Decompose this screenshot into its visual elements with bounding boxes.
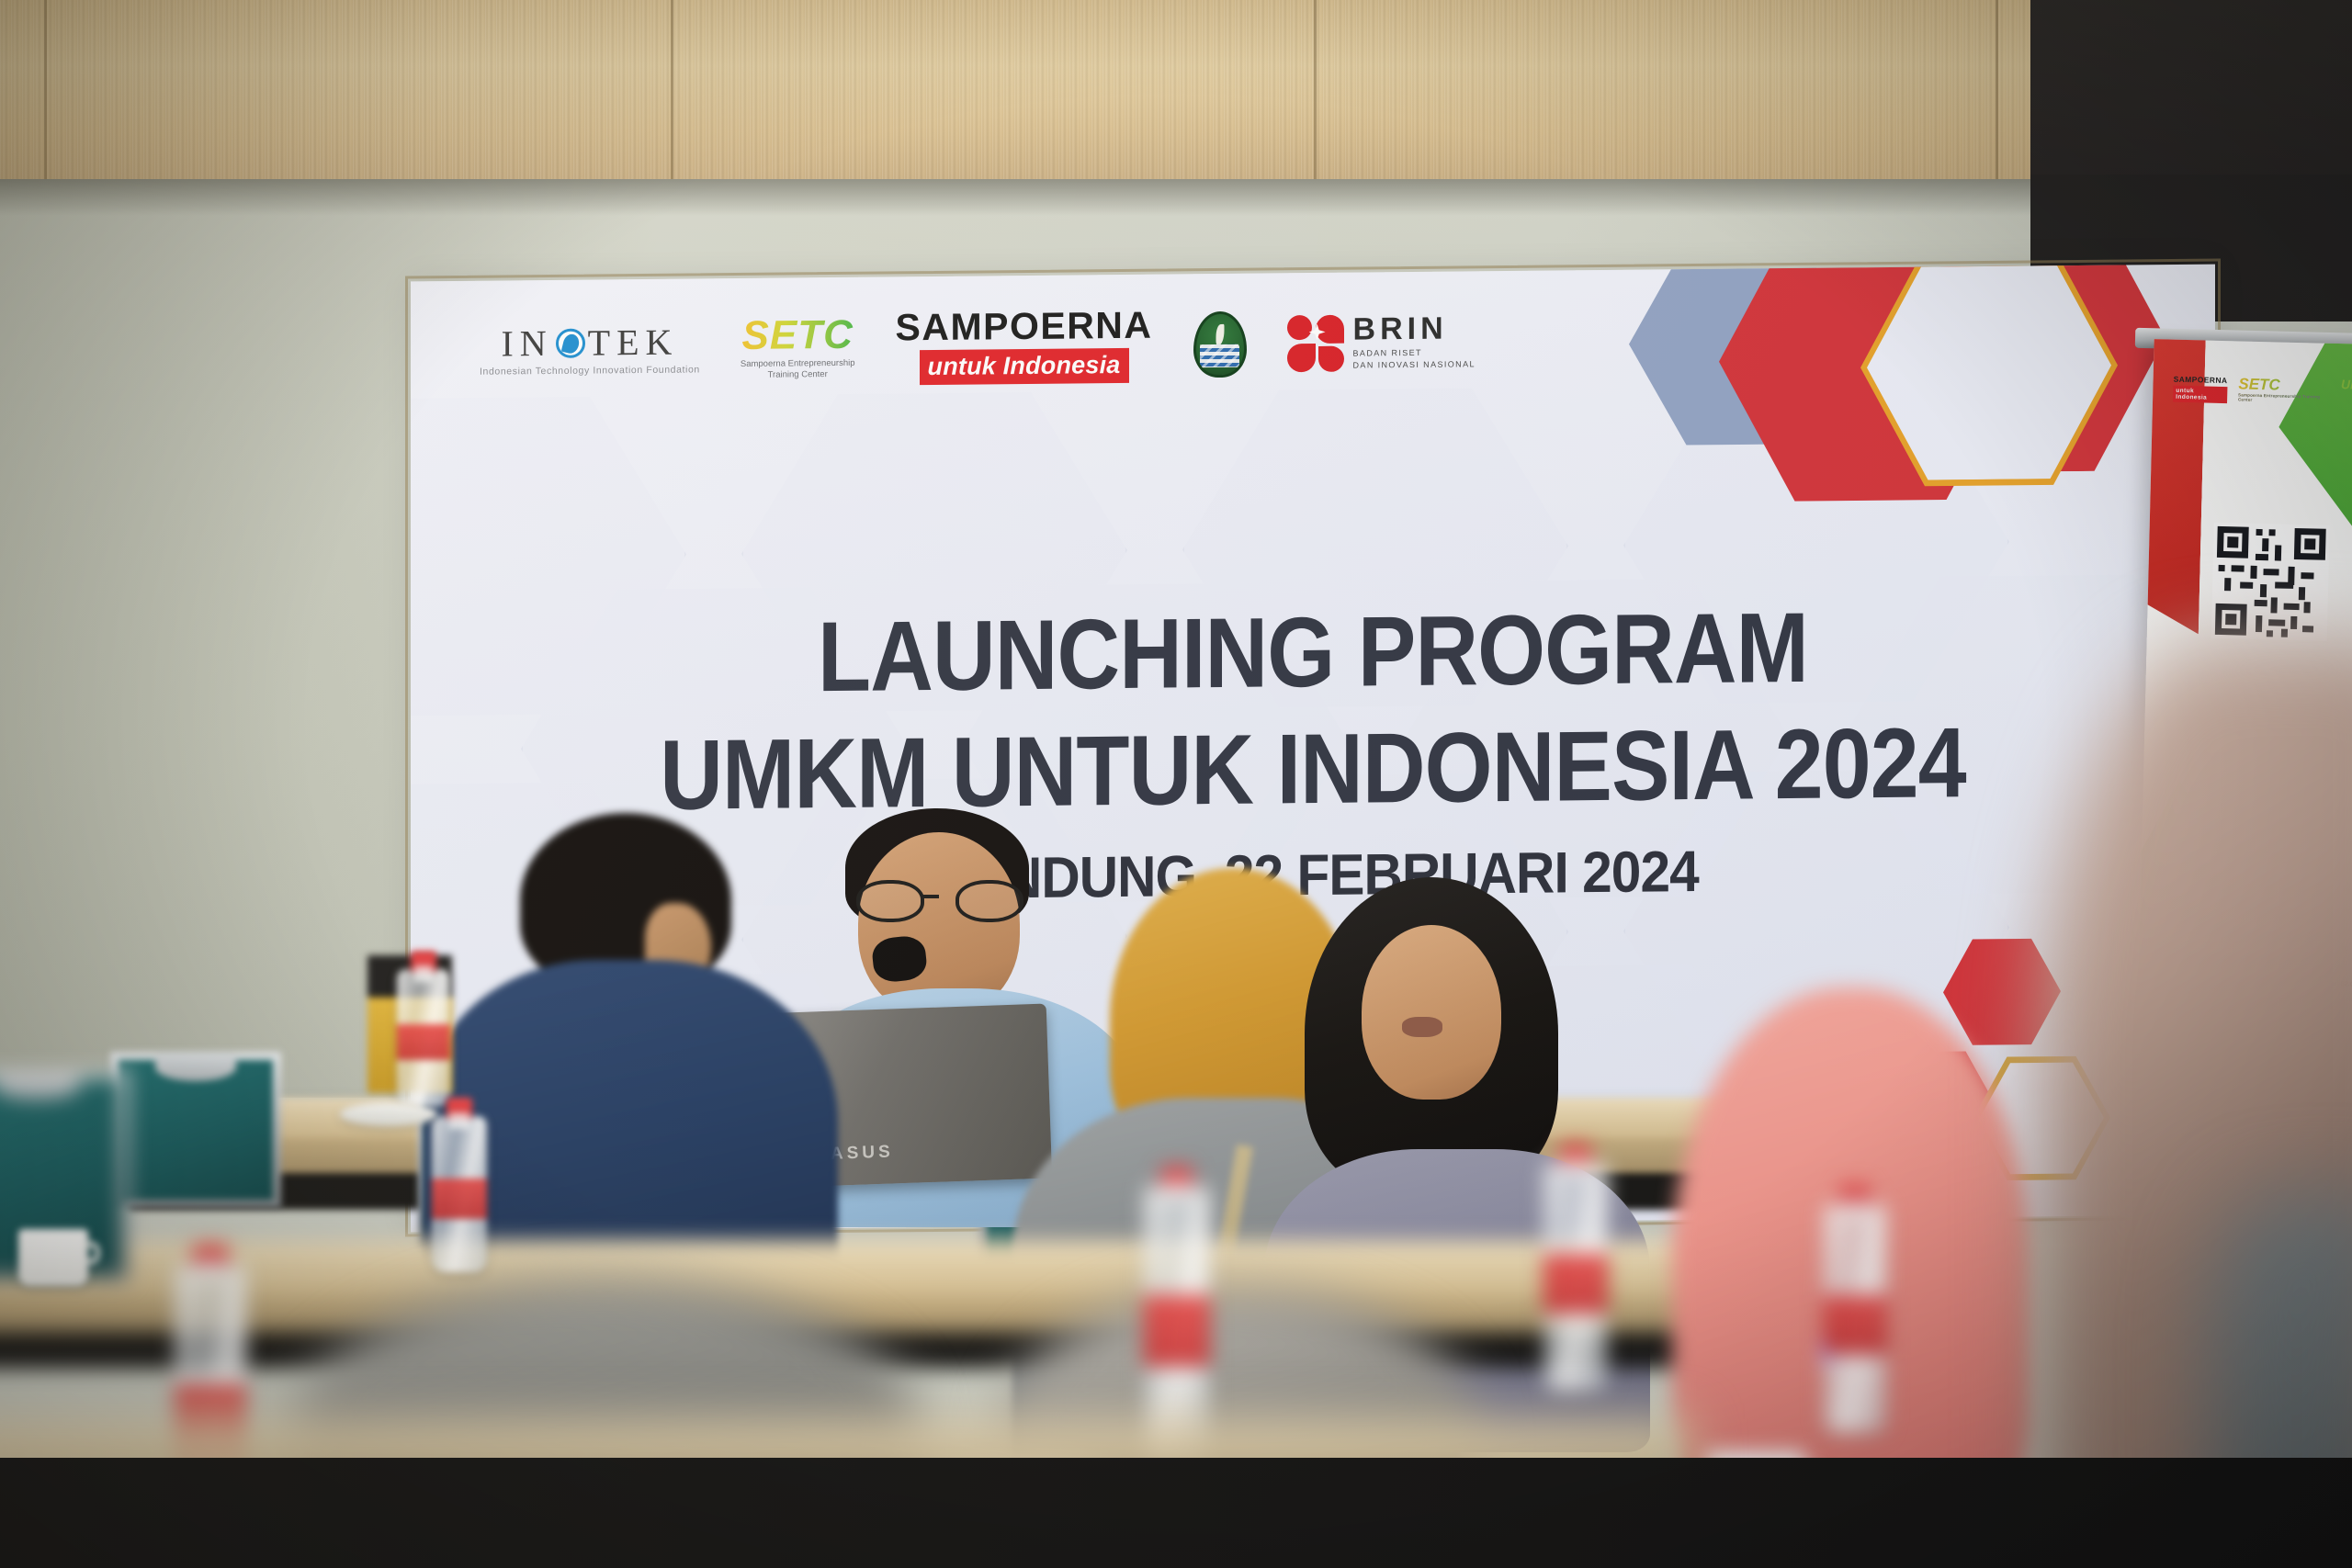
logo-jawa-barat [1193,310,1247,378]
attendee-navy-shirt [432,813,827,1300]
emblem-stripes [1200,344,1240,367]
sampoerna-badge: untuk Indonesia [920,348,1129,385]
rollup-sampoerna-word: SAMPOERNA [2174,375,2228,385]
water-bottle [432,1116,487,1272]
setc-wordmark: SETC [742,315,854,356]
eyeglasses [856,876,1027,926]
water-bottle [1824,1203,1886,1433]
logo-sampoerna: SAMPOERNA untuk Indonesia [896,307,1153,386]
logo-inotek: IN TEK Indonesian Technology Innovation … [480,323,700,377]
wood-panel-wall [0,0,2035,188]
logo-setc: SETC Sampoerna Entrepreneurship Training… [741,315,855,381]
sponsor-logo-row: IN TEK Indonesian Technology Innovation … [480,303,1476,389]
floor-shadow [0,1458,2352,1568]
water-bottle [397,969,450,1107]
setc-tagline-line1: Sampoerna Entrepreneurship [741,358,855,370]
rollup-logo-setc: SETC Sampoerna Entrepreneurship Training… [2238,376,2330,403]
rollup-sampoerna-badge: untuk Indonesia [2173,386,2227,403]
kujang-icon [1216,324,1224,345]
rollup-logo-ukm: UMKM [2341,378,2352,391]
laptop-brand-label: ASUS [831,1143,895,1165]
inotek-wordmark-left: IN [501,324,552,362]
coffee-mug [18,1229,88,1286]
rollup-green-shape [2276,339,2352,540]
rollup-setc-tagline: Sampoerna Entrepreneurship Training Cent… [2238,393,2330,403]
setc-tagline: Sampoerna Entrepreneurship Training Cent… [741,358,855,381]
brin-wordmark: BRIN [1353,313,1476,345]
rollup-setc-word: SETC [2238,375,2280,393]
brin-tagline-line2: DAN INOVASI NASIONAL [1353,358,1476,371]
logo-brin: BRIN BADAN RISET DAN INOVASI NASIONAL [1287,313,1476,372]
brin-mark-icon [1287,314,1344,372]
water-bottle [1543,1162,1608,1392]
setc-tagline-line2: Training Center [741,369,855,381]
wall-shadow [0,179,2067,216]
rollup-qr-code[interactable] [2211,523,2330,641]
jawa-barat-emblem-icon [1193,310,1247,378]
rollup-logo-sampoerna: SAMPOERNA untuk Indonesia [2173,375,2228,403]
saucer [340,1102,437,1126]
rollup-logo-row: SAMPOERNA untuk Indonesia SETC Sampoerna… [2173,375,2352,408]
banquet-chair [110,1052,281,1208]
inotek-tagline: Indonesian Technology Innovation Foundat… [480,364,700,377]
event-photo-scene: IN TEK Indonesian Technology Innovation … [0,0,2352,1568]
headline-line-1: LAUNCHING PROGRAM [519,592,2107,714]
inotek-droplet-icon [556,328,585,357]
brin-tagline: BADAN RISET DAN INOVASI NASIONAL [1353,347,1476,371]
sampoerna-wordmark: SAMPOERNA [896,307,1153,347]
inotek-wordmark-right: TEK [588,323,679,361]
headline-line-2: UMKM UNTUK INDONESIA 2024 [519,707,2107,829]
